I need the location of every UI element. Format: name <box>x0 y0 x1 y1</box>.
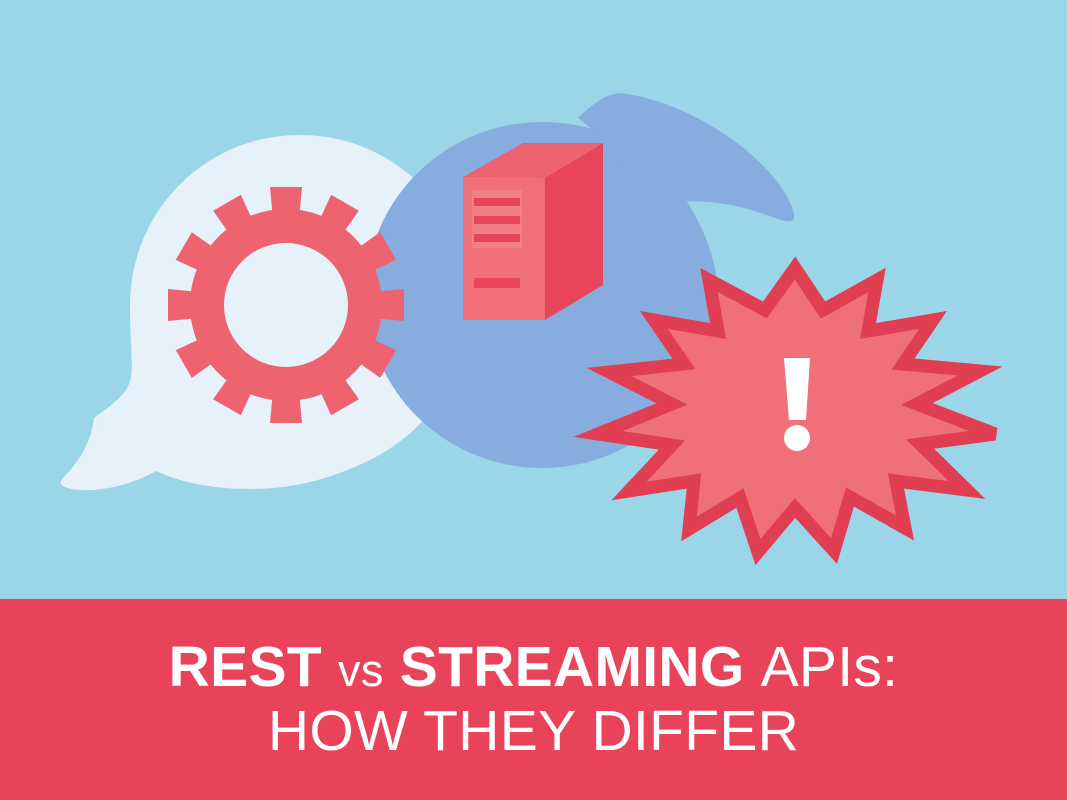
server-vent-bar <box>474 216 520 224</box>
server-vent-bar <box>474 198 520 206</box>
title-line-2: HOW THEY DIFFER <box>268 703 799 760</box>
title-word-apis: APIs: <box>761 635 899 699</box>
title-word-vs: vs <box>338 645 384 696</box>
server-tower-icon <box>463 143 603 320</box>
exclamation-dot <box>784 425 810 451</box>
title-banner: REST vs STREAMING APIs: HOW THEY DIFFER <box>0 599 1067 800</box>
server-drive-bar <box>474 278 520 288</box>
server-vent-bar <box>474 234 520 242</box>
title-word-rest: REST <box>169 635 322 699</box>
title-word-streaming: STREAMING <box>400 635 745 699</box>
gear-hole <box>224 243 348 367</box>
hero-illustration <box>0 0 1067 599</box>
title-line-1: REST vs STREAMING APIs: <box>169 639 899 696</box>
poster-root: REST vs STREAMING APIs: HOW THEY DIFFER <box>0 0 1067 800</box>
hero-svg <box>0 0 1067 599</box>
